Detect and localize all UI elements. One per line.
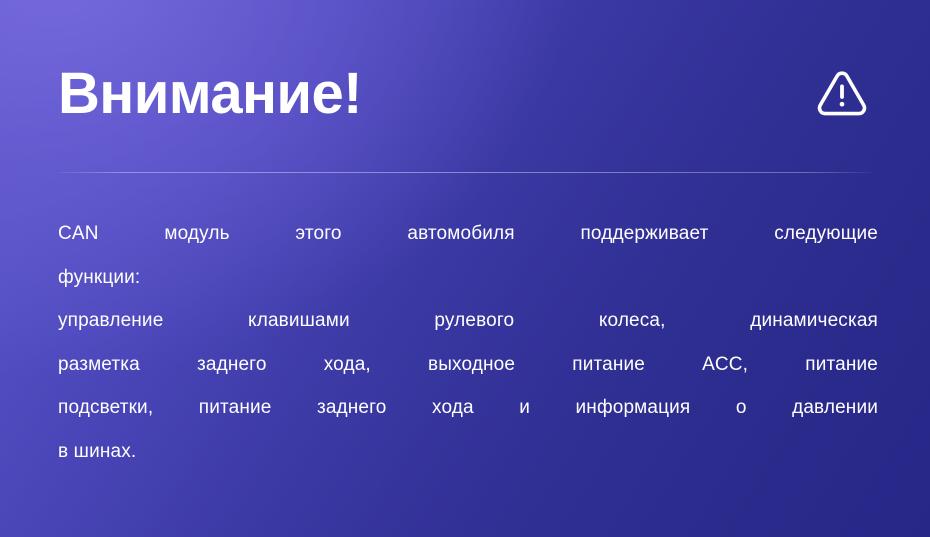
body-text-line: разметказаднегохода,выходноепитаниеACC,п… (58, 343, 878, 387)
body-text-word: хода, (324, 343, 371, 387)
body-text-word: питание (805, 343, 878, 387)
body-text-word: питание (572, 343, 645, 387)
body-text-word: управление (58, 299, 163, 343)
body-text-word: питание (199, 386, 272, 430)
body-text-word: разметка (58, 343, 140, 387)
body-text-line: в шинах. (58, 430, 878, 474)
body-text-word: давлении (792, 386, 878, 430)
body-text-line: подсветки,питаниезаднегоходаиинформацияо… (58, 386, 878, 430)
body-text-line: CANмодульэтогоавтомобиляподдерживаетслед… (58, 212, 878, 256)
body-text-line: функции: (58, 256, 878, 300)
body-text-word: рулевого (434, 299, 514, 343)
header-divider (58, 172, 872, 173)
banner-header: Внимание! (58, 54, 872, 134)
body-text-word: и (519, 386, 530, 430)
body-text-word: заднего (197, 343, 267, 387)
body-text-word: следующие (774, 212, 878, 256)
attention-banner: Внимание! CANмодульэтогоавтомобиляподдер… (0, 0, 930, 537)
body-text-word: ACC, (702, 343, 748, 387)
body-text-word: колеса, (599, 299, 666, 343)
body-text-word: этого (295, 212, 341, 256)
body-text-word: выходное (428, 343, 515, 387)
body-text-word: CAN (58, 212, 99, 256)
body-text-word: динамическая (750, 299, 878, 343)
body-text-word: модуль (164, 212, 229, 256)
body-text: CANмодульэтогоавтомобиляподдерживаетслед… (58, 212, 878, 474)
body-text-word: хода (432, 386, 474, 430)
body-text-word: информация (576, 386, 691, 430)
body-text-word: подсветки, (58, 386, 153, 430)
body-text-word: поддерживает (580, 212, 708, 256)
body-text-line: управлениеклавишамирулевогоколеса,динами… (58, 299, 878, 343)
warning-triangle-icon (814, 66, 872, 122)
body-text-word: заднего (317, 386, 387, 430)
body-text-word: клавишами (248, 299, 350, 343)
body-text-word: автомобиля (407, 212, 514, 256)
page-title: Внимание! (58, 65, 362, 123)
body-text-word: о (736, 386, 747, 430)
